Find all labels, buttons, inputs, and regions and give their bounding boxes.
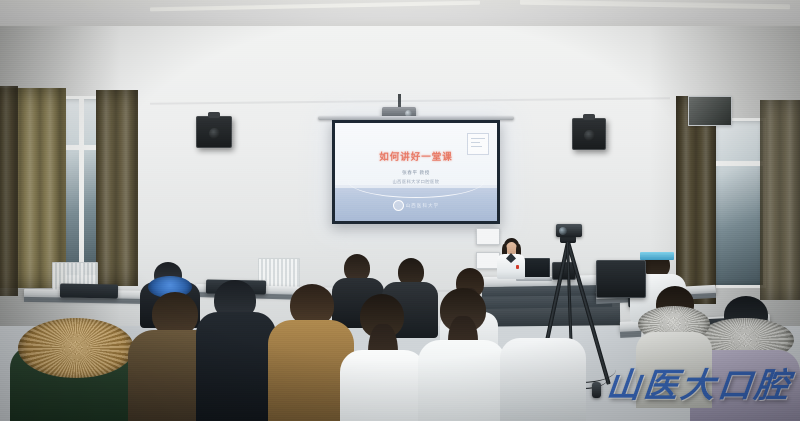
window-mullion (79, 99, 84, 275)
dark-coat (196, 312, 276, 421)
curtain-left-edge (0, 86, 18, 296)
camera-lens-icon (559, 227, 567, 235)
audience-member-foreground (10, 300, 140, 421)
wall-speaker-right (572, 118, 606, 150)
curtain-right-outer (760, 100, 800, 300)
window-mullion (715, 161, 763, 166)
projector-mount (398, 94, 401, 108)
slide-presenter: 张春平 教授 (335, 170, 497, 176)
microphone (592, 382, 601, 398)
audience-member-foreground (340, 294, 426, 421)
audience-member-foreground (500, 330, 586, 421)
projection-screen: 如何讲好一堂课 张春平 教授 山西医科大学口腔医院 山西医科大学 (332, 120, 500, 224)
slide-title: 如何讲好一堂课 (335, 149, 497, 163)
university-name: 山西医科大学 (406, 203, 440, 209)
blue-item (640, 252, 674, 260)
light-coat (636, 332, 712, 408)
speaker-cone-icon (209, 128, 220, 139)
video-camera (556, 224, 582, 237)
slide-university-logo: 山西医科大学 (335, 200, 497, 211)
curtain-left-inner (96, 90, 138, 286)
chair-back (60, 283, 118, 298)
presenter-badge (516, 265, 519, 269)
slide-footer-band: 山西医科大学 (335, 188, 497, 221)
speaker-bracket (583, 114, 595, 120)
fur-hood (18, 318, 134, 378)
university-emblem-icon (393, 200, 404, 211)
presenter (496, 238, 536, 294)
equipment-box (596, 260, 646, 298)
audience-member-foreground (418, 288, 506, 421)
speaker-bracket (208, 112, 220, 118)
audience-member-foreground (196, 280, 276, 421)
audience-member (636, 286, 712, 406)
window-right (712, 118, 766, 288)
slide: 如何讲好一堂课 张春平 教授 山西医科大学口腔医院 山西医科大学 (335, 123, 497, 221)
speaker-cone-icon (584, 130, 595, 141)
white-coat (340, 350, 426, 421)
wall-speaker-left (196, 116, 232, 148)
white-coat (418, 340, 506, 421)
lecture-hall-photo: 如何讲好一堂课 张春平 教授 山西医科大学口腔医院 山西医科大学 (0, 0, 800, 421)
wall-picture (688, 96, 732, 126)
white-coat (500, 338, 586, 421)
